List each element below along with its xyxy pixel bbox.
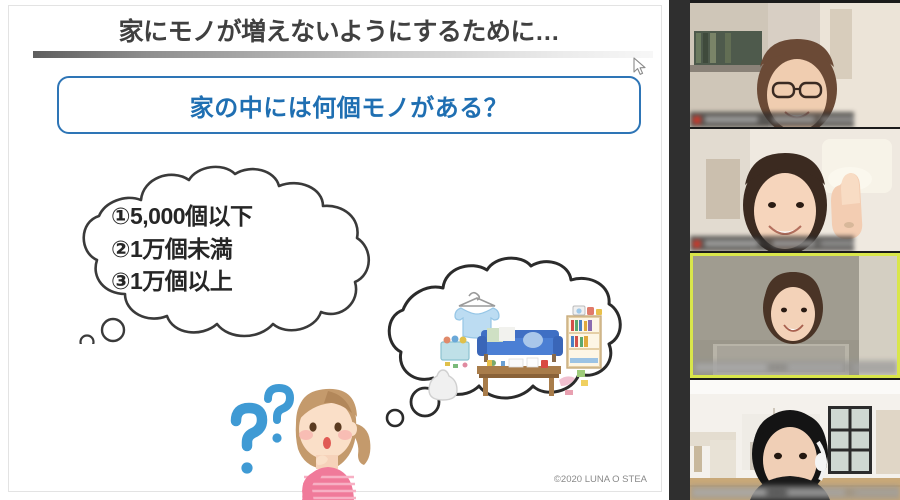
- slide-frame: 家にモノが増えないようにするために… 家の中には何個モノがある？ ①5,000個…: [8, 5, 662, 492]
- video-tile-participant-4[interactable]: [690, 380, 900, 500]
- video-tile-participant-2[interactable]: [690, 129, 900, 251]
- answer-option: ①5,000個以下: [111, 200, 361, 233]
- shared-slide-area[interactable]: 家にモノが増えないようにするために… 家の中には何個モノがある？ ①5,000個…: [0, 0, 669, 500]
- video-feed: [690, 380, 900, 500]
- participant-name-label: [705, 240, 854, 247]
- video-conference-screen-share: 家にモノが増えないようにするために… 家の中には何個モノがある？ ①5,000個…: [0, 0, 900, 500]
- thought-cloud-room-shape: [381, 254, 626, 439]
- participant-name-label: [705, 116, 854, 123]
- question-box: 家の中には何個モノがある？: [57, 76, 641, 134]
- participant-name-label: [693, 489, 900, 496]
- thinking-girl-illustration: [224, 371, 379, 500]
- video-frame-scene: [690, 3, 900, 127]
- girl-and-question-marks: [224, 371, 379, 500]
- participant-name-label: [696, 364, 897, 371]
- participant-video-panel[interactable]: [690, 0, 900, 500]
- mic-muted-icon: [693, 116, 701, 124]
- answer-options-list: ①5,000個以下 ②1万個未満 ③1万個以上: [111, 200, 361, 298]
- copyright-notice: ©2020 LUNA O STEA: [554, 474, 647, 485]
- girl-figure: [296, 389, 371, 500]
- video-feed: [690, 3, 900, 127]
- video-feed: [693, 256, 897, 375]
- video-frame-scene: [690, 129, 900, 251]
- panel-divider: [669, 0, 690, 500]
- question-text: 家の中には何個モノがある？: [190, 88, 509, 123]
- mic-muted-icon: [693, 240, 701, 248]
- participant-name-bar: [690, 112, 854, 127]
- room-thought-cloud: [381, 254, 626, 439]
- participant-name-bar: [690, 236, 854, 251]
- participant-name-bar: [690, 485, 900, 500]
- video-tile-participant-1[interactable]: [690, 3, 900, 127]
- page-title: 家にモノが増えないようにするために…: [39, 12, 639, 48]
- answer-option: ③1万個以上: [111, 265, 361, 298]
- answers-thought-cloud: ①5,000個以下 ②1万個未満 ③1万個以上: [71, 164, 381, 344]
- video-tile-participant-3[interactable]: [690, 253, 900, 378]
- question-mark-icon: [268, 388, 290, 443]
- title-underline-rule: [33, 51, 653, 58]
- answer-option: ②1万個未満: [111, 233, 361, 266]
- question-mark-icon: [236, 408, 262, 474]
- video-frame-scene: [690, 380, 900, 500]
- video-feed: [690, 129, 900, 251]
- participant-name-bar: [693, 360, 897, 375]
- video-frame-scene: [693, 256, 897, 375]
- mouse-cursor: [633, 57, 649, 82]
- arrow-cursor-icon: [633, 57, 649, 77]
